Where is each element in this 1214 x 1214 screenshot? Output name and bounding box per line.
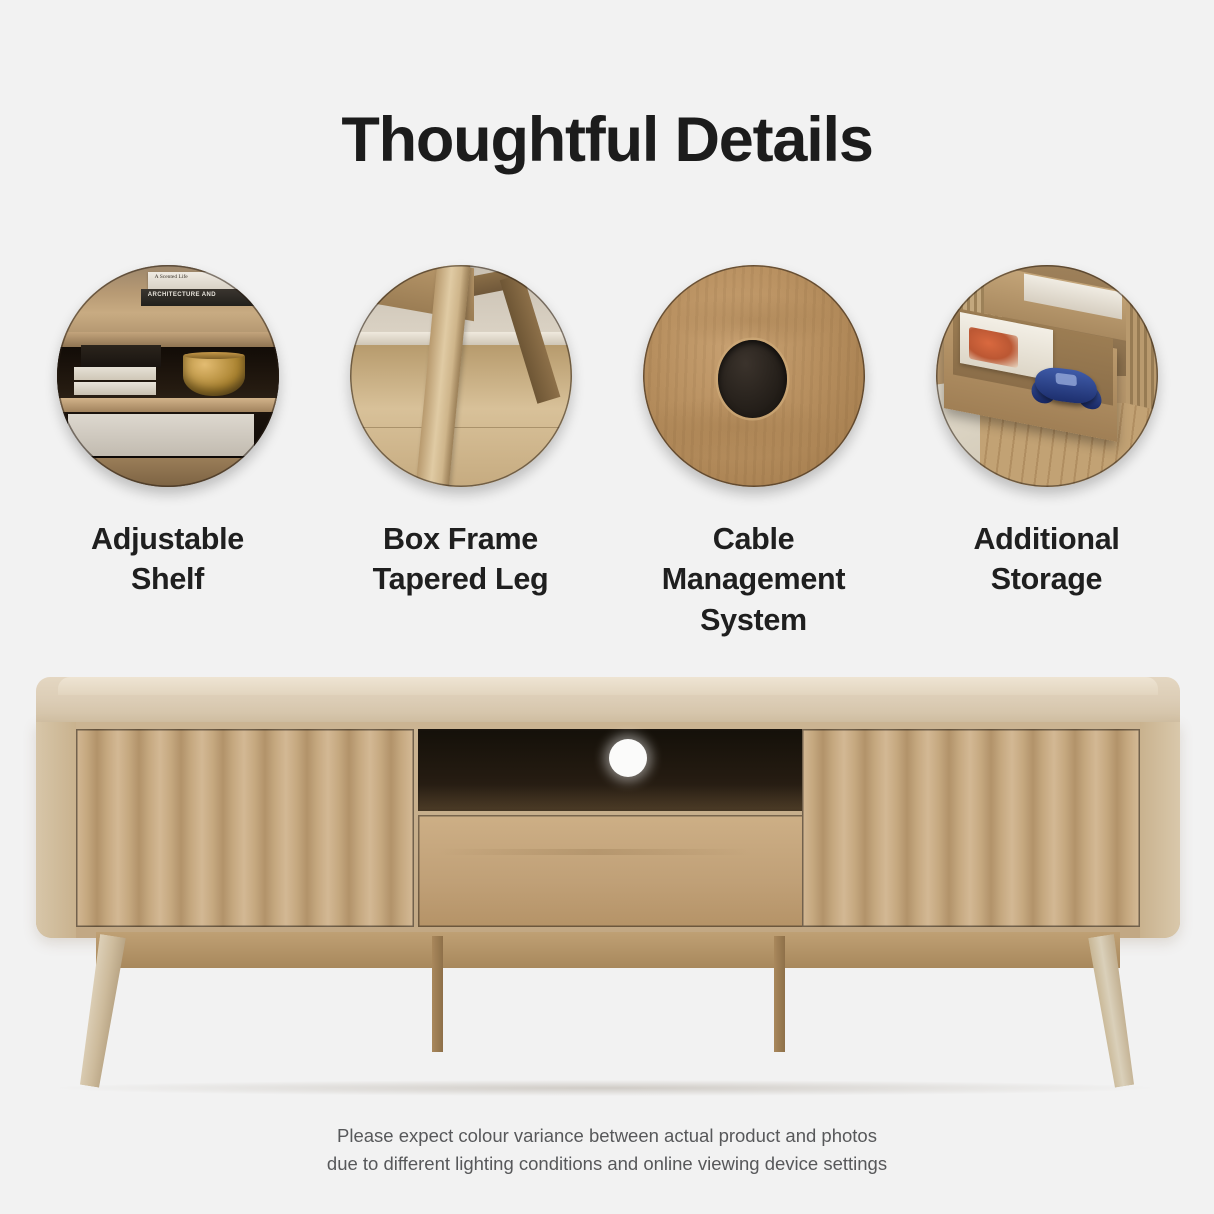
feature-label-line1: Adjustable: [91, 519, 244, 559]
feature-label-adjustable-shelf: Adjustable Shelf: [91, 519, 244, 600]
feature-label-box-frame-tapered-leg: Box Frame Tapered Leg: [373, 519, 549, 600]
cabinet-center-section: [418, 729, 810, 927]
feature-box-frame-tapered-leg[interactable]: Box Frame Tapered Leg: [328, 265, 593, 640]
book-a-title: A Scented Life: [155, 274, 188, 280]
feature-label-line2: System: [621, 600, 886, 640]
product-hero-image: [0, 660, 1214, 1110]
feature-label-line2: Storage: [973, 559, 1119, 599]
dark-box: [81, 345, 161, 367]
feature-photo-tapered-leg: [350, 265, 572, 487]
feature-photo-cable-management: [643, 265, 865, 487]
fluted-door-right[interactable]: [802, 729, 1140, 927]
book-a-scented-life: A Scented Life: [148, 272, 250, 290]
base-rail: [96, 932, 1120, 968]
fluted-door-left[interactable]: [76, 729, 414, 927]
feature-label-line2: Tapered Leg: [373, 559, 549, 599]
book-stack-upper: [74, 367, 156, 380]
feature-additional-storage[interactable]: Additional Storage: [914, 265, 1179, 640]
cable-hole-icon: [718, 340, 787, 418]
leg-center-left: [432, 936, 443, 1052]
feature-label-additional-storage: Additional Storage: [973, 519, 1119, 600]
photo-drawer-scene: [936, 265, 1158, 487]
feature-list: A Scented Life ARCHITECTURE AND Adjustab…: [35, 265, 1179, 640]
brass-bowl: [183, 354, 245, 396]
leg-outer-right: [1088, 934, 1137, 1088]
leg-outer-left: [76, 934, 125, 1088]
feature-photo-additional-storage: [936, 265, 1158, 487]
page-title: Thoughtful Details: [0, 107, 1214, 173]
adjustable-shelf-board: [57, 398, 279, 412]
center-drawer[interactable]: [418, 815, 810, 927]
disclaimer: Please expect colour variance between ac…: [0, 1122, 1214, 1178]
disclaimer-line-1: Please expect colour variance between ac…: [0, 1122, 1214, 1150]
feature-label-line1: Additional: [973, 519, 1119, 559]
feature-label-cable-management-system: Cable Management System: [621, 519, 886, 640]
feature-label-line1: Box Frame: [373, 519, 549, 559]
cabinet-side-right: [1140, 722, 1180, 938]
feature-cable-management-system[interactable]: Cable Management System: [621, 265, 886, 640]
feature-photo-adjustable-shelf: A Scented Life ARCHITECTURE AND: [57, 265, 279, 487]
cable-hole-icon: [609, 739, 647, 777]
white-storage-box: [68, 414, 254, 456]
photo-cable-hole-scene: [643, 265, 865, 487]
cabinet-body: [36, 722, 1180, 938]
book-stack-lower: [74, 382, 156, 395]
open-cubby: [418, 729, 810, 811]
disclaimer-line-2: due to different lighting conditions and…: [0, 1150, 1214, 1178]
book-b-title: ARCHITECTURE AND: [148, 292, 216, 298]
feature-adjustable-shelf[interactable]: A Scented Life ARCHITECTURE AND Adjustab…: [35, 265, 300, 640]
leg-center-right: [774, 936, 785, 1052]
book-architecture: ARCHITECTURE AND: [141, 289, 256, 306]
feature-label-line1: Cable Management: [621, 519, 886, 600]
feature-label-line2: Shelf: [91, 559, 244, 599]
cabinet-side-left: [36, 722, 76, 938]
photo-shelf-scene: A Scented Life ARCHITECTURE AND: [57, 265, 279, 487]
photo-leg-scene: [350, 265, 572, 487]
floor-shadow: [60, 1080, 1150, 1096]
game-controller: [1035, 365, 1099, 406]
